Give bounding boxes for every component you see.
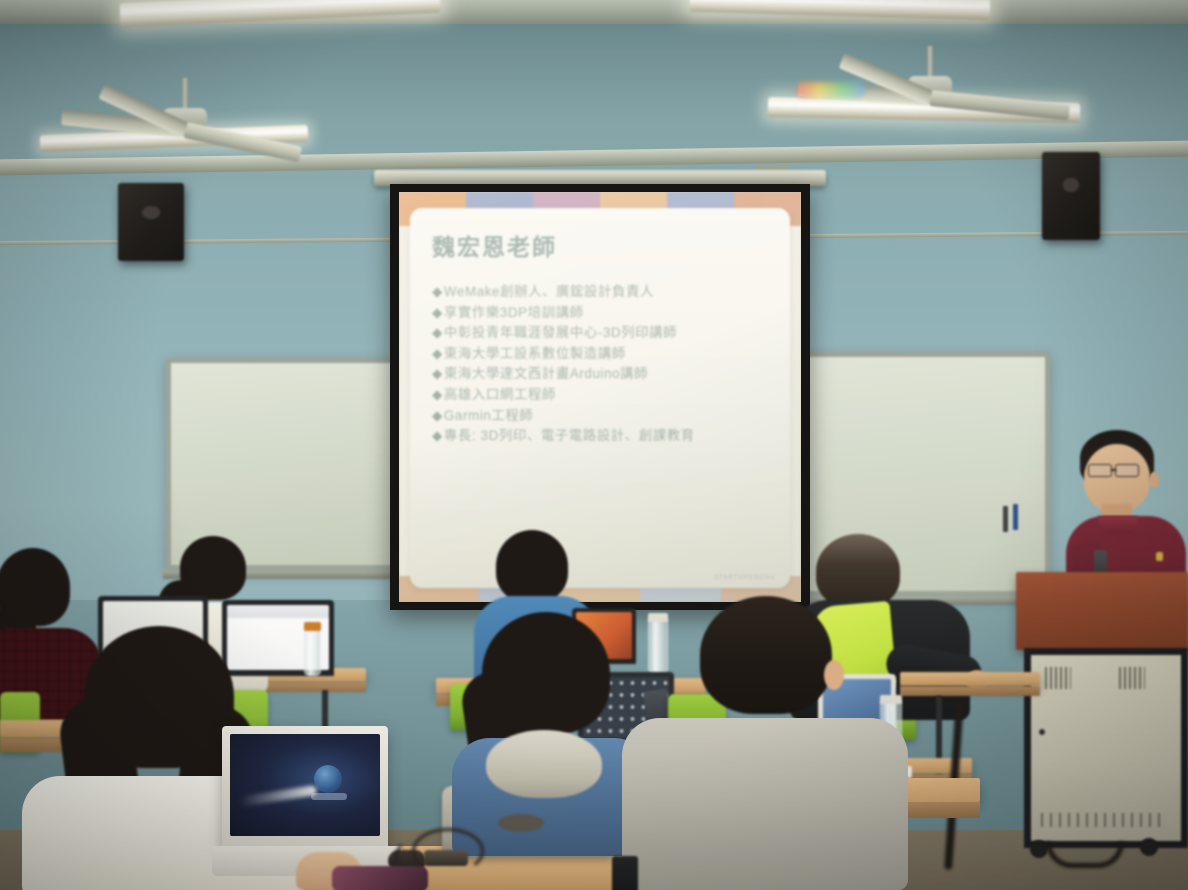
student-hair: [700, 596, 832, 714]
presentation-slide: 魏宏恩老師 ◆WeMake創辦人、廣鋐設計負責人 ◆享實作樂3DP培訓講師 ◆中…: [399, 192, 801, 602]
podium-vent-right: [1119, 667, 1145, 689]
classroom-scene: 魏宏恩老師 ◆WeMake創辦人、廣鋐設計負責人 ◆享實作樂3DP培訓講師 ◆中…: [0, 0, 1188, 890]
hoodie-hood: [486, 730, 602, 798]
diamond-bullet-icon: ◆: [432, 366, 443, 381]
fan-blade: [929, 90, 1070, 121]
bullet-text: Garmin工程師: [444, 408, 533, 423]
podium-cabinet[interactable]: [1024, 648, 1188, 848]
list-item: ◆專長: 3D列印、電子電路設計、創課教育: [432, 426, 770, 447]
glasses-left-lens-icon: [1088, 464, 1112, 477]
list-item: ◆東海大學達文西計畫Arduino講師: [432, 364, 770, 385]
glasses-right-lens-icon: [1115, 464, 1139, 477]
whiteboard-marker-black[interactable]: [1003, 506, 1008, 532]
slide-bullet-list: ◆WeMake創辦人、廣鋐設計負責人 ◆享實作樂3DP培訓講師 ◆中彰投青年職涯…: [432, 282, 770, 447]
diamond-bullet-icon: ◆: [432, 408, 443, 423]
student-gray-tee: [636, 596, 896, 890]
laptop-screen: [230, 734, 380, 836]
student-hair: [496, 530, 568, 602]
screen-glare: [239, 785, 318, 807]
slide-watermark: STARTUPENCHU: [714, 575, 776, 581]
screen-login-field[interactable]: [311, 793, 347, 800]
glasses-bridge-icon: [1111, 469, 1116, 471]
student-ear: [824, 660, 844, 690]
podium-vent-bottom: [1041, 813, 1163, 827]
bullet-text: 高雄入口網工程師: [444, 387, 556, 402]
podium-top: [1016, 572, 1188, 650]
prism-rainbow-glare: [796, 82, 866, 98]
ceiling-fan-left: [60, 78, 310, 178]
bullet-text: 中彰投青年職涯發展中心-3D列印講師: [444, 325, 677, 340]
laptop-white-front[interactable]: [222, 726, 388, 848]
presenter-head: [1084, 444, 1150, 512]
student-shirt: [622, 718, 908, 890]
diamond-bullet-icon: ◆: [432, 387, 443, 402]
list-item: ◆WeMake創辦人、廣鋐設計負責人: [432, 282, 770, 303]
wall-speaker-left: [118, 183, 184, 261]
presenter-ear: [1149, 472, 1159, 488]
ceiling-fan-right: [790, 46, 1070, 156]
fan-blade: [183, 122, 302, 162]
diamond-bullet-icon: ◆: [432, 305, 443, 320]
list-item: ◆高雄入口網工程師: [432, 385, 770, 406]
bullet-text: 享實作樂3DP培訓講師: [444, 305, 584, 320]
desk-right-edge: [900, 686, 1040, 696]
presenter-collar: [1098, 516, 1138, 534]
presenter-badge-icon: [1156, 552, 1163, 561]
diamond-bullet-icon: ◆: [432, 325, 443, 340]
diamond-bullet-icon: ◆: [432, 284, 443, 299]
fan-rod: [927, 46, 933, 80]
fan-rod: [182, 78, 188, 112]
bottle-cap: [304, 622, 321, 631]
chair-handle-front: [498, 814, 544, 832]
bullet-text: 東海大學達文西計畫Arduino講師: [444, 366, 648, 381]
podium-vent-left: [1045, 667, 1071, 689]
podium-lock-icon[interactable]: [1039, 729, 1045, 735]
list-item: ◆享實作樂3DP培訓講師: [432, 303, 770, 324]
list-item: ◆Garmin工程師: [432, 406, 770, 427]
pencil-case[interactable]: [332, 866, 428, 890]
desk-right: [900, 672, 1040, 686]
list-item: ◆東海大學工設系數位製造講師: [432, 344, 770, 365]
list-item: ◆中彰投青年職涯發展中心-3D列印講師: [432, 323, 770, 344]
whiteboard-marker-blue[interactable]: [1013, 504, 1018, 530]
slide-card: 魏宏恩老師 ◆WeMake創辦人、廣鋐設計負責人 ◆享實作樂3DP培訓講師 ◆中…: [410, 208, 790, 588]
bullet-text: WeMake創辦人、廣鋐設計負責人: [444, 284, 654, 299]
wall-speaker-right: [1042, 152, 1100, 240]
podium-caster-right: [1140, 838, 1158, 856]
water-bottle-left[interactable]: [304, 626, 321, 676]
bullet-text: 東海大學工設系數位製造講師: [444, 346, 626, 361]
projector-screen: 魏宏恩老師 ◆WeMake創辦人、廣鋐設計負責人 ◆享實作樂3DP培訓講師 ◆中…: [390, 184, 810, 610]
diamond-bullet-icon: ◆: [432, 346, 443, 361]
bullet-text: 專長: 3D列印、電子電路設計、創課教育: [444, 428, 695, 443]
slide-title: 魏宏恩老師: [432, 228, 770, 262]
smartphone-on-desk[interactable]: [612, 856, 638, 890]
screen-planet-icon: [314, 765, 342, 793]
diamond-bullet-icon: ◆: [432, 428, 443, 443]
